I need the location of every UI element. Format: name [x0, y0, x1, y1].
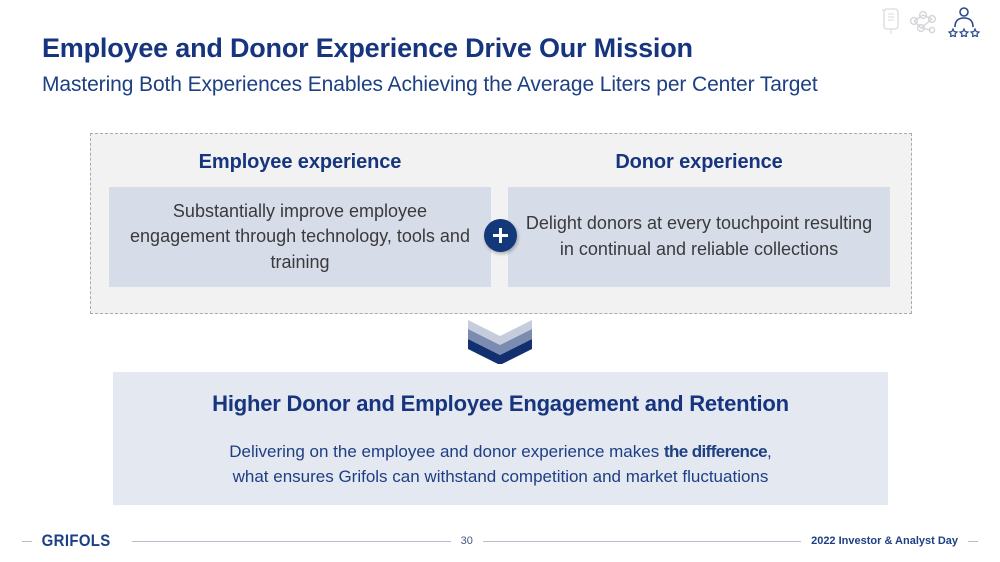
- page-subtitle: Mastering Both Experiences Enables Achie…: [42, 73, 818, 97]
- page-number: 30: [451, 535, 483, 547]
- donor-experience-heading: Donor experience: [508, 134, 890, 174]
- outcome-box: Higher Donor and Employee Engagement and…: [113, 372, 888, 505]
- event-label: 2022 Investor & Analyst Day: [801, 535, 968, 547]
- person-three-stars-icon: [946, 5, 982, 37]
- slide: Employee and Donor Experience Drive Our …: [0, 0, 1000, 562]
- footer-rule-start: [22, 541, 32, 542]
- footer-rule-end: [968, 541, 978, 542]
- plus-icon: [484, 219, 517, 252]
- donor-experience-text: Delight donors at every touchpoint resul…: [522, 211, 876, 262]
- outcome-body-emphasis: the difference: [664, 442, 767, 461]
- grifols-logo: GRIFOLS: [32, 531, 120, 551]
- employee-experience-heading: Employee experience: [109, 134, 491, 174]
- page-title: Employee and Donor Experience Drive Our …: [42, 33, 693, 64]
- donor-experience-column: Donor experience Delight donors at every…: [508, 134, 890, 313]
- footer-rule-right: [483, 541, 801, 542]
- chevron-down-icon: [468, 320, 532, 364]
- plasma-bag-icon: [880, 7, 902, 37]
- outcome-body-suffix: ,: [767, 442, 772, 461]
- outcome-body: Delivering on the employee and donor exp…: [113, 440, 888, 489]
- outcome-body-prefix: Delivering on the employee and donor exp…: [229, 442, 664, 461]
- employee-experience-text: Substantially improve employee engagemen…: [123, 199, 477, 276]
- slide-footer: GRIFOLS 30 2022 Investor & Analyst Day: [0, 530, 1000, 552]
- header-icon-group: [880, 5, 982, 37]
- employee-experience-column: Employee experience Substantially improv…: [109, 134, 491, 313]
- footer-rule-left: [132, 541, 450, 542]
- molecule-network-icon: [907, 7, 941, 37]
- employee-experience-body-box: Substantially improve employee engagemen…: [109, 187, 491, 287]
- outcome-body-line2: what ensures Grifols can withstand compe…: [233, 467, 769, 486]
- outcome-heading: Higher Donor and Employee Engagement and…: [113, 391, 888, 417]
- donor-experience-body-box: Delight donors at every touchpoint resul…: [508, 187, 890, 287]
